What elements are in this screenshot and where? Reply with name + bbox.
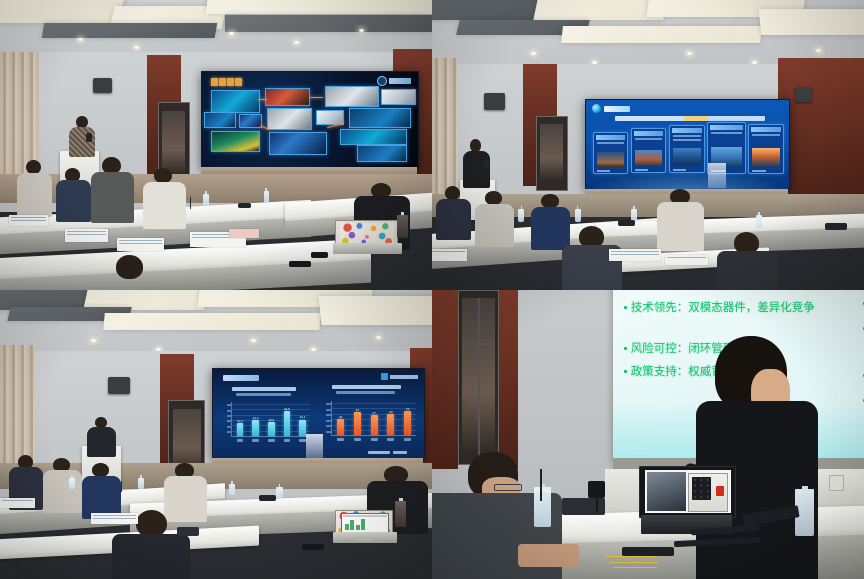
wood-pillar bbox=[432, 290, 458, 469]
panel-top-left bbox=[0, 0, 432, 290]
audience-member bbox=[657, 189, 705, 247]
timeline-card bbox=[748, 124, 785, 174]
slide-applications-montage bbox=[202, 72, 418, 168]
chart-source-note bbox=[368, 451, 407, 454]
university-logo-icon bbox=[377, 76, 411, 86]
smartphone bbox=[302, 544, 324, 550]
ceiling-speaker-icon bbox=[484, 93, 506, 110]
panel-bottom-left: 17.221.418.634.522.4 2231272933 bbox=[0, 290, 432, 579]
chart-value-label: 34.5 bbox=[284, 407, 290, 411]
ceiling-speaker-icon bbox=[93, 78, 112, 93]
window-curtain bbox=[432, 58, 458, 203]
chart-category-label bbox=[237, 439, 244, 442]
chart-axis-tick bbox=[227, 404, 232, 406]
chart-value-label: 29 bbox=[389, 410, 392, 414]
thermos bbox=[397, 215, 407, 238]
lecture-hall-room bbox=[0, 0, 432, 290]
water-bottle bbox=[203, 194, 209, 206]
document-stack bbox=[9, 215, 48, 227]
wood-pillar bbox=[497, 290, 519, 469]
camera-feed bbox=[647, 472, 686, 511]
panel-top-right bbox=[432, 0, 864, 290]
chart-bar bbox=[354, 412, 361, 435]
document-stack bbox=[432, 249, 467, 261]
smartphone bbox=[311, 252, 328, 258]
chart-value-label: 21.4 bbox=[253, 416, 259, 420]
ceiling-speaker-icon bbox=[108, 377, 130, 394]
slide-brand-logo-icon bbox=[381, 373, 418, 380]
front-desk-closeup: 技术领先：双模态器件，差异化竞争 风险可控：闭环管理 政策支持：权威背书 bbox=[432, 290, 864, 579]
folder bbox=[229, 229, 259, 238]
wood-panel bbox=[778, 58, 864, 203]
bar-chart-right: 2231272933 bbox=[323, 385, 418, 446]
ceiling-light-panel bbox=[561, 26, 762, 43]
slide-wave-decoration bbox=[586, 170, 789, 190]
plot-area-left: 17.221.418.634.522.4 bbox=[231, 402, 310, 436]
chart-axis-tick bbox=[227, 420, 232, 422]
chart-axis-tick bbox=[326, 414, 331, 416]
ceiling-light-panel bbox=[0, 0, 125, 23]
gooseneck-microphone bbox=[121, 481, 122, 493]
chart-axis-tick bbox=[326, 431, 331, 433]
chart-category-label bbox=[354, 438, 361, 441]
chart-category-label bbox=[371, 438, 378, 441]
water-bottle bbox=[756, 215, 762, 228]
timeline-card bbox=[593, 132, 627, 174]
handheld-microphone bbox=[86, 133, 91, 142]
keypad-icon bbox=[692, 477, 712, 500]
slide-subtitle-bar bbox=[615, 116, 765, 121]
slide-brand-logo-icon bbox=[592, 104, 630, 113]
audience-member bbox=[475, 191, 514, 243]
chart-value-label: 17.2 bbox=[237, 419, 243, 423]
handheld-microphone bbox=[108, 435, 113, 444]
doorway bbox=[458, 290, 499, 465]
glasses-icon bbox=[494, 484, 522, 492]
water-bottle bbox=[518, 209, 524, 222]
smartphone-in-hand bbox=[177, 527, 199, 536]
desk-microphone bbox=[259, 495, 276, 501]
chart-bar bbox=[387, 414, 394, 435]
audience-member bbox=[99, 255, 159, 290]
chart-axis-tick bbox=[326, 425, 331, 427]
timeline-card bbox=[631, 128, 665, 173]
led-wall-base bbox=[201, 167, 417, 174]
chart-axis-tick bbox=[227, 415, 232, 417]
gooseneck-microphone bbox=[190, 197, 191, 209]
operator-hand bbox=[518, 544, 578, 567]
led-video-wall bbox=[201, 71, 419, 169]
chart-bar bbox=[237, 423, 244, 435]
gooseneck-microphone bbox=[540, 469, 542, 501]
chart-bar bbox=[252, 420, 259, 435]
ceiling-recess bbox=[42, 23, 217, 38]
screen-glare bbox=[306, 434, 323, 459]
water-bottle bbox=[229, 484, 235, 496]
jumper-wire bbox=[605, 556, 657, 557]
document-stack bbox=[665, 255, 708, 265]
chart-bar bbox=[371, 415, 378, 435]
slide-market-analysis: 17.221.418.634.522.4 2231272933 bbox=[213, 369, 425, 459]
ceiling-light-panel bbox=[206, 0, 432, 15]
jumper-wire bbox=[609, 562, 657, 563]
document-stack bbox=[65, 229, 108, 242]
chart-value-label: 27 bbox=[373, 411, 376, 415]
test-rig bbox=[622, 547, 674, 556]
chart-value-label: 31 bbox=[356, 408, 359, 412]
desk-microphone bbox=[825, 223, 847, 229]
laptop bbox=[333, 220, 402, 255]
wall-socket bbox=[829, 475, 844, 491]
water-bottle bbox=[69, 478, 75, 490]
ceiling-light-panel bbox=[759, 9, 864, 35]
chart-category-label bbox=[387, 438, 394, 441]
bullet-line-1: 技术领先：双模态器件，差异化竞争 bbox=[624, 299, 815, 316]
doorway bbox=[536, 116, 568, 191]
water-bottle bbox=[264, 191, 270, 203]
demo-laptop bbox=[639, 466, 734, 535]
screen-glare bbox=[708, 163, 726, 188]
webcam-stand bbox=[596, 495, 598, 512]
chart-axis-tick bbox=[227, 426, 232, 428]
plot-area-right: 2231272933 bbox=[331, 401, 416, 436]
ceiling-light-panel bbox=[103, 313, 321, 330]
sticker-laptop bbox=[333, 510, 398, 545]
chart-axis-tick bbox=[326, 403, 331, 405]
chart-axis-tick bbox=[326, 420, 331, 422]
document-stack bbox=[117, 238, 165, 251]
chart-value-label: 18.6 bbox=[268, 418, 274, 422]
lecture-hall-room bbox=[432, 0, 864, 290]
slide-industry-timeline bbox=[586, 100, 789, 190]
led-video-wall: 17.221.418.634.522.4 2231272933 bbox=[212, 368, 426, 460]
ceiling-light-panel bbox=[318, 296, 432, 325]
bullet-text-1: 技术领先：双模态器件，差异化竞争 bbox=[631, 300, 815, 314]
audience-member bbox=[717, 232, 777, 290]
audience-member bbox=[43, 458, 82, 510]
status-indicator bbox=[716, 486, 724, 496]
chart-category-label bbox=[252, 439, 259, 442]
chart-category-label bbox=[337, 438, 344, 441]
chart-axis-tick bbox=[227, 410, 232, 412]
device-panel bbox=[688, 473, 728, 512]
chart-category-label bbox=[268, 439, 275, 442]
water-bottle bbox=[276, 487, 282, 499]
presenter bbox=[67, 116, 97, 157]
smartphone bbox=[289, 261, 311, 267]
chart-bar bbox=[268, 422, 275, 435]
audience-member bbox=[91, 157, 134, 221]
audience-member bbox=[17, 160, 52, 215]
bar-chart-left: 17.221.418.634.522.4 bbox=[223, 387, 312, 446]
water-bottle bbox=[575, 209, 581, 222]
panel-bottom-right: 技术领先：双模态器件，差异化竞争 风险可控：闭环管理 政策支持：权威背书 bbox=[432, 290, 864, 579]
handheld-microphone bbox=[484, 160, 489, 169]
water-bottle bbox=[534, 487, 551, 527]
chart-bar bbox=[337, 419, 344, 435]
jumper-wire bbox=[613, 567, 656, 568]
ceiling-speaker-icon bbox=[795, 87, 812, 102]
ceiling-recess bbox=[225, 15, 432, 32]
slide-title-blocks bbox=[211, 78, 242, 86]
chart-bar bbox=[284, 411, 291, 436]
slide-title-bar bbox=[223, 375, 259, 381]
microphone-base bbox=[562, 498, 605, 515]
desk-microphone bbox=[238, 203, 251, 208]
thermos bbox=[395, 501, 406, 527]
led-video-wall bbox=[585, 99, 790, 191]
photo-grid: 17.221.418.634.522.4 2231272933 bbox=[0, 0, 864, 579]
audience-member bbox=[82, 463, 121, 515]
chart-category-label bbox=[404, 438, 411, 441]
audience-member bbox=[436, 186, 471, 238]
audience-member bbox=[56, 168, 91, 220]
document-stack bbox=[0, 498, 35, 508]
desk-microphone bbox=[618, 220, 635, 226]
chart-category-label bbox=[284, 439, 291, 442]
chart-value-label: 22 bbox=[339, 415, 342, 419]
chart-value-label: 33 bbox=[406, 407, 409, 411]
chart-axis-tick bbox=[326, 409, 331, 411]
chart-bar bbox=[404, 411, 411, 435]
timeline-card bbox=[669, 125, 706, 174]
chart-axis-tick bbox=[227, 431, 232, 433]
water-bottle bbox=[138, 478, 144, 490]
chart-value-label: 22.4 bbox=[300, 415, 306, 419]
audience-member bbox=[143, 168, 186, 226]
document-stack bbox=[609, 249, 661, 261]
document-stack bbox=[91, 513, 139, 525]
lecture-hall-room: 17.221.418.634.522.4 2231272933 bbox=[0, 290, 432, 579]
